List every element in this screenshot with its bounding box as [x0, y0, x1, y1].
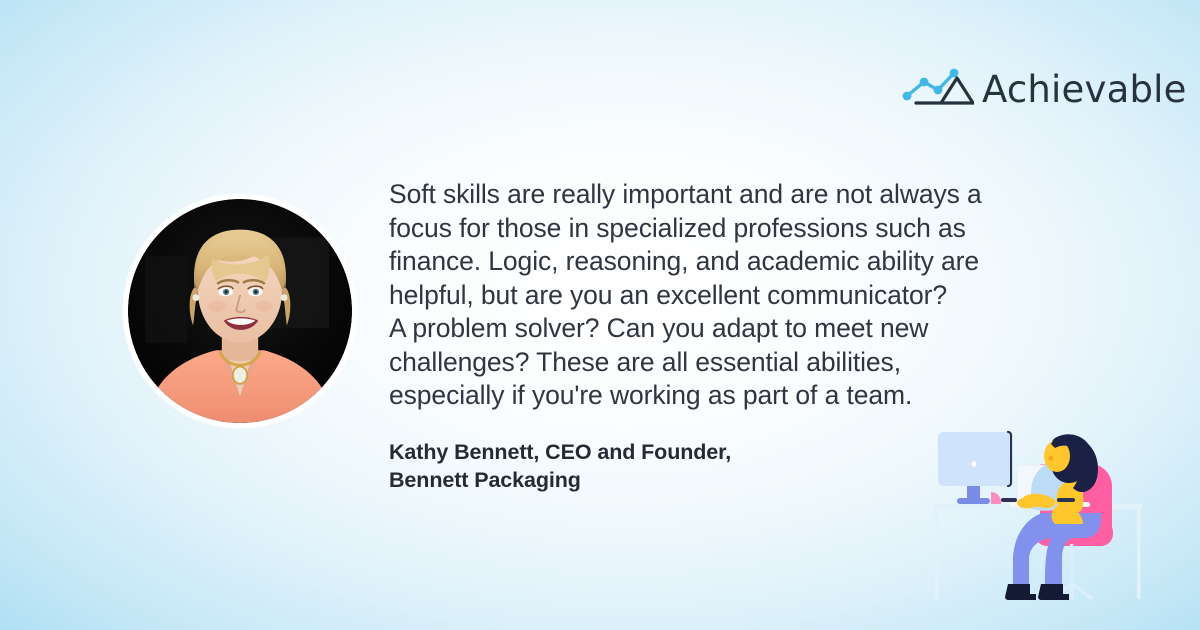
quote-card: Achievable: [0, 0, 1200, 630]
portrait-photo: [128, 199, 352, 423]
brand-name: Achievable: [982, 71, 1187, 108]
line-chart-mountain-icon: [900, 68, 974, 110]
desk-work-illustration: [905, 408, 1200, 630]
quote-text: Soft skills are really important and are…: [389, 178, 1059, 413]
avatar: [123, 194, 357, 428]
brand-logo[interactable]: Achievable: [900, 68, 1187, 110]
